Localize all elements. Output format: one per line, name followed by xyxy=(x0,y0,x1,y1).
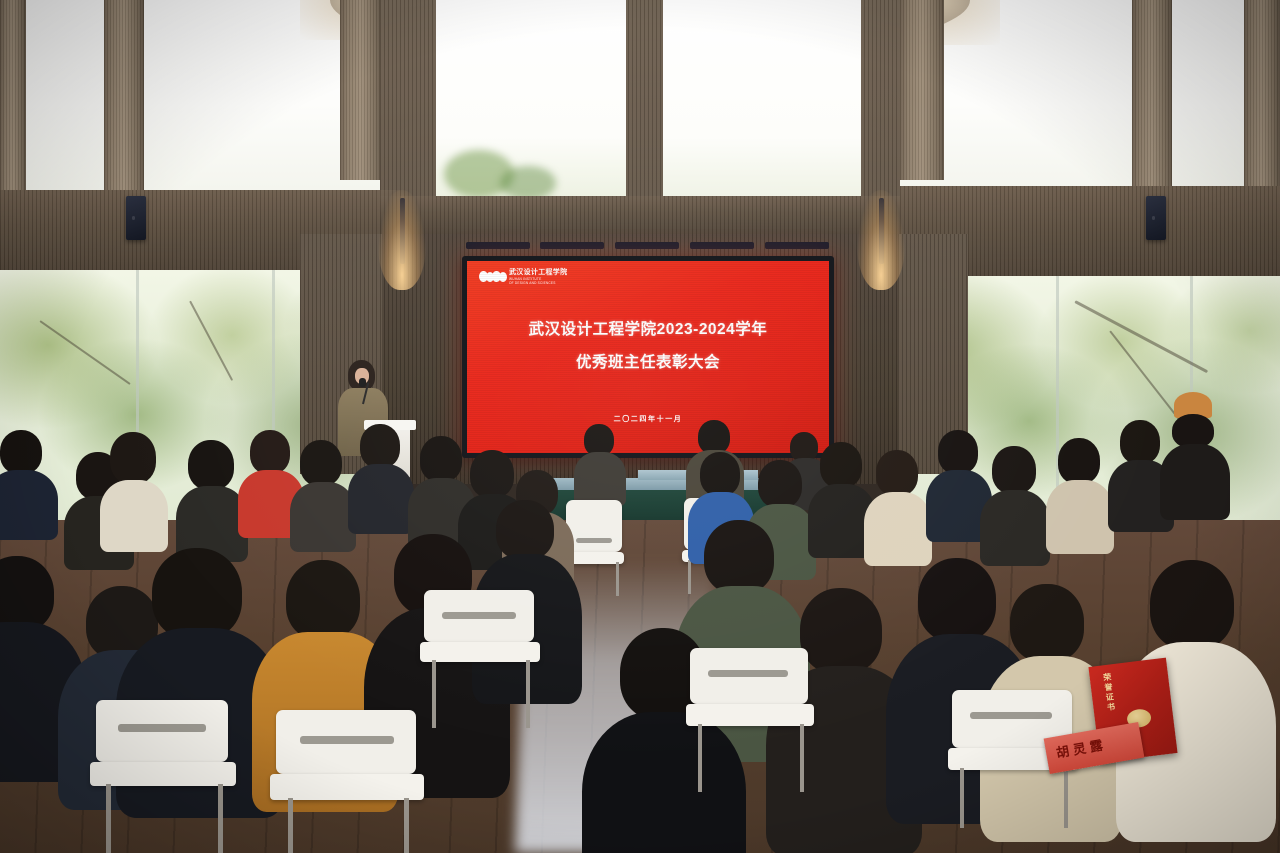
acoustic-dash xyxy=(690,242,754,249)
chair-leg xyxy=(106,784,111,853)
chair-leg xyxy=(800,724,804,792)
head xyxy=(1172,414,1214,448)
school-logo: 武汉设计工程学院 WUHAN INSTITUTE OF DESIGN AND S… xyxy=(479,269,567,285)
head xyxy=(1150,560,1234,650)
chair-seat xyxy=(90,762,236,786)
side-wall-left xyxy=(0,0,26,210)
certificate-title: 荣誉证书 xyxy=(1101,672,1117,713)
photo-scene: 武汉设计工程学院 WUHAN INSTITUTE OF DESIGN AND S… xyxy=(0,0,1280,853)
torso xyxy=(582,712,746,853)
screen-date-line: 二〇二四年十一月 xyxy=(467,414,829,424)
chair-slot xyxy=(442,612,516,619)
acoustic-dash xyxy=(466,242,530,249)
head xyxy=(470,450,514,498)
head xyxy=(820,442,862,488)
wall-speaker-right xyxy=(1146,196,1166,240)
head xyxy=(1058,438,1100,484)
head xyxy=(876,450,918,496)
head xyxy=(938,430,978,474)
head xyxy=(704,520,774,594)
screen-title-line1: 武汉设计工程学院2023-2024学年 xyxy=(467,317,829,339)
chair-back xyxy=(566,500,622,552)
logo-cn-name: 武汉设计工程学院 xyxy=(509,269,567,276)
name-card-text: 胡灵露 xyxy=(1054,734,1108,762)
head xyxy=(110,432,156,484)
torso xyxy=(348,464,414,534)
window-column xyxy=(1132,0,1172,200)
wood-band-center xyxy=(380,196,900,234)
head xyxy=(1120,420,1160,464)
head xyxy=(992,446,1036,494)
acoustic-dash xyxy=(540,242,604,249)
head xyxy=(758,460,802,508)
chair-slot xyxy=(708,670,788,677)
head xyxy=(496,500,554,560)
torso xyxy=(864,492,932,566)
screen-title-block: 武汉设计工程学院2023-2024学年 优秀班主任表彰大会 xyxy=(467,317,829,372)
chair-leg xyxy=(288,798,293,853)
acoustic-dash xyxy=(615,242,679,249)
head xyxy=(1010,584,1084,662)
torso xyxy=(0,470,58,540)
chair-slot xyxy=(300,736,394,744)
torso xyxy=(290,482,356,552)
sconce-glow-left xyxy=(378,190,426,290)
torso xyxy=(574,452,626,506)
head xyxy=(360,424,400,468)
window-column xyxy=(340,0,382,180)
torso xyxy=(100,480,168,552)
head xyxy=(800,588,882,674)
chair-slot xyxy=(118,724,206,732)
foliage-blob xyxy=(500,166,556,200)
torso xyxy=(980,490,1050,566)
chair-leg xyxy=(218,784,223,853)
chair-leg xyxy=(960,768,964,828)
chair-leg xyxy=(404,798,409,853)
chair-leg xyxy=(688,560,691,594)
sconce-glow-right xyxy=(857,190,905,290)
torso xyxy=(1046,480,1114,554)
head xyxy=(0,430,42,474)
head xyxy=(250,430,290,474)
chair-leg xyxy=(526,660,530,728)
chair-slot xyxy=(970,712,1052,719)
window-column xyxy=(104,0,144,200)
logo-text: 武汉设计工程学院 WUHAN INSTITUTE OF DESIGN AND S… xyxy=(509,269,567,285)
led-screen: 武汉设计工程学院 WUHAN INSTITUTE OF DESIGN AND S… xyxy=(467,261,829,453)
chair-leg xyxy=(698,724,702,792)
logo-blob-icon xyxy=(479,271,505,282)
chair-slot xyxy=(576,538,612,543)
logo-en-line1: WUHAN INSTITUTE xyxy=(509,278,567,281)
chair-leg xyxy=(1064,768,1068,828)
chair-seat xyxy=(420,642,540,662)
logo-en-line2: OF DESIGN AND SCIENCES xyxy=(509,282,567,285)
microphone-head xyxy=(359,378,366,387)
head xyxy=(698,420,730,454)
head xyxy=(300,440,342,486)
wall-speaker-left xyxy=(126,196,146,240)
stage-window-right xyxy=(663,0,861,196)
head xyxy=(286,560,360,640)
acoustic-dash xyxy=(765,242,829,249)
chair-seat xyxy=(686,704,814,726)
head xyxy=(420,436,462,482)
chair-seat xyxy=(270,774,424,800)
chair-leg xyxy=(432,660,436,728)
torso xyxy=(1160,444,1230,520)
head xyxy=(918,558,996,642)
window-column xyxy=(900,0,944,180)
screen-title-line2: 优秀班主任表彰大会 xyxy=(467,350,829,372)
head xyxy=(152,548,242,640)
led-screen-bezel: 武汉设计工程学院 WUHAN INSTITUTE OF DESIGN AND S… xyxy=(462,256,834,458)
head xyxy=(700,452,740,496)
chair-leg xyxy=(616,562,619,596)
head xyxy=(188,440,234,490)
